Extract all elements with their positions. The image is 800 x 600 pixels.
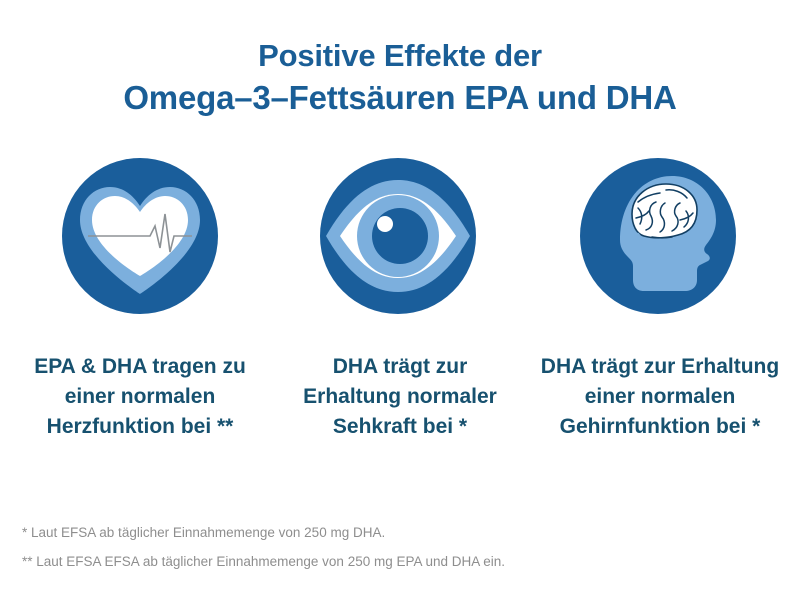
benefit-icon-brain [580, 158, 736, 314]
benefit-caption-brain: DHA trägt zur Erhaltung einer normalen G… [522, 352, 798, 441]
caption-line: DHA trägt zur [333, 355, 468, 378]
footnotes: * Laut EFSA ab täglicher Einnahmemenge v… [22, 518, 782, 576]
caption-line: EPA & DHA tragen zu [34, 355, 246, 378]
benefit-caption-heart: EPA & DHA tragen zu einer normalen Herzf… [4, 352, 276, 441]
footnote-single-asterisk: * Laut EFSA ab täglicher Einnahmemenge v… [22, 518, 782, 547]
caption-line: einer normalen [65, 385, 216, 408]
page-title: Positive Effekte der Omega–3–Fettsäuren … [0, 38, 800, 118]
eye-icon-highlight [377, 216, 393, 232]
caption-line: Herzfunktion bei ** [47, 415, 234, 438]
benefit-icon-heart [62, 158, 218, 314]
eye-icon-pupil [372, 208, 428, 264]
infographic-root: Positive Effekte der Omega–3–Fettsäuren … [0, 0, 800, 600]
page-title-line-1: Positive Effekte der [0, 38, 800, 75]
caption-line: einer normalen [585, 385, 736, 408]
benefit-icon-row [0, 158, 800, 316]
caption-line: Erhaltung normaler [303, 385, 497, 408]
caption-line: Sehkraft bei * [333, 415, 467, 438]
caption-line: Gehirnfunktion bei * [560, 415, 761, 438]
caption-line: DHA trägt zur Erhaltung [541, 355, 779, 378]
page-title-line-2: Omega–3–Fettsäuren EPA und DHA [0, 79, 800, 118]
benefit-caption-eye: DHA trägt zur Erhaltung normaler Sehkraf… [272, 352, 528, 441]
footnote-double-asterisk: ** Laut EFSA EFSA ab täglicher Einnahmem… [22, 547, 782, 576]
brain-icon-brain-mass [632, 184, 697, 238]
benefit-icon-eye [320, 158, 476, 314]
benefit-caption-row: EPA & DHA tragen zu einer normalen Herzf… [0, 352, 800, 447]
